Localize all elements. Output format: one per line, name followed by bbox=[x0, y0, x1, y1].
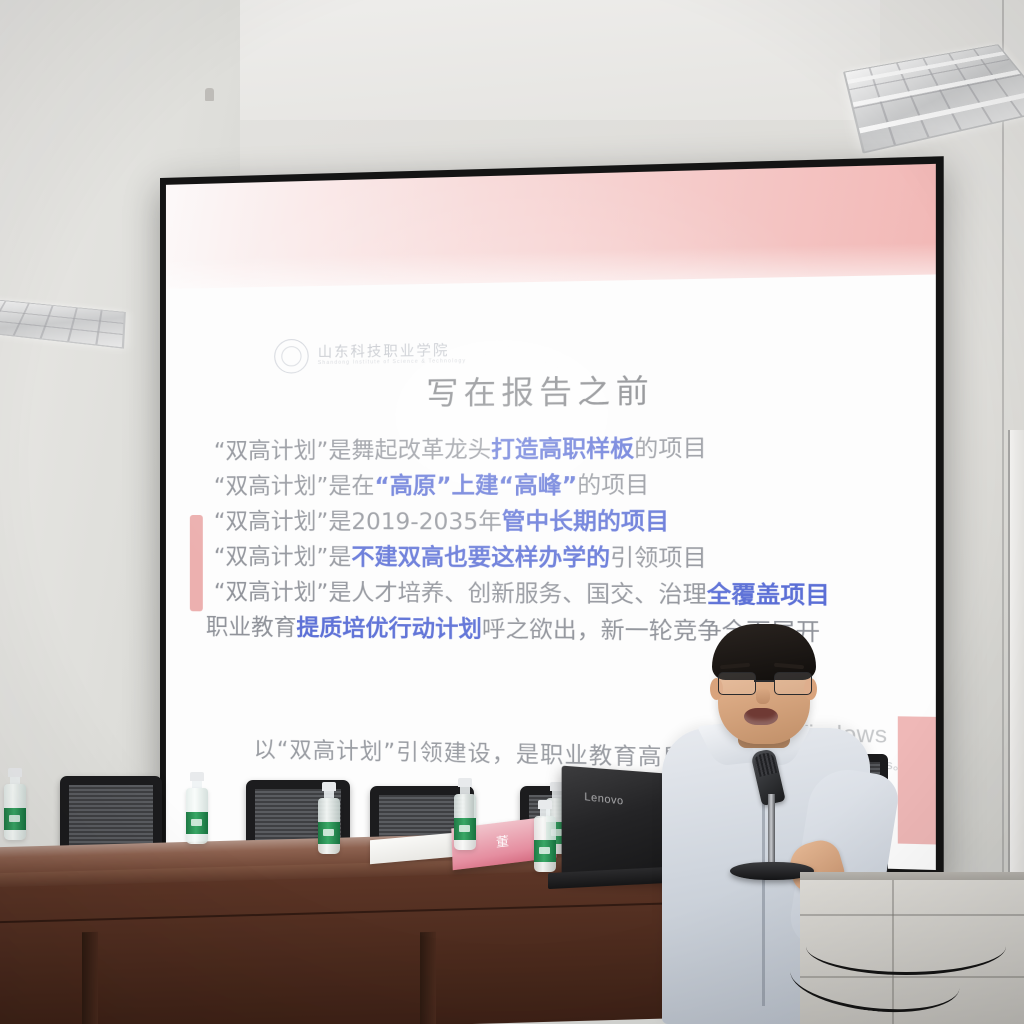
bottle-1-body bbox=[4, 784, 26, 840]
slide-line-1: “双高计划”是舞起改革龙头打造高职样板的项目 bbox=[206, 430, 920, 470]
line-1-post: 的项目 bbox=[634, 435, 707, 462]
laptop-brand-logo: Lenovo bbox=[584, 791, 623, 808]
slide-line-5: “双高计划”是人才培养、创新服务、国交、治理全覆盖项目 bbox=[206, 575, 920, 616]
door-frame bbox=[1008, 430, 1024, 900]
bottle-6-label bbox=[534, 840, 556, 862]
ceiling-sensor-icon bbox=[205, 88, 214, 101]
line-3-pre: “双高计划”是2019-2035年 bbox=[214, 509, 502, 536]
floor-tile-line-1 bbox=[800, 914, 1024, 916]
microphone[interactable] bbox=[742, 752, 802, 880]
bottle-6-body bbox=[534, 816, 556, 872]
line-3-highlight: 管中长期的项目 bbox=[502, 509, 669, 536]
bottle-4-neck bbox=[460, 787, 470, 794]
slide-line-4: “双高计划”是不建双高也要这样办学的引领项目 bbox=[206, 540, 920, 578]
water-bottle-1 bbox=[4, 768, 26, 840]
water-bottle-3 bbox=[318, 782, 340, 854]
table-leg-2 bbox=[420, 932, 436, 1024]
bottle-1-neck bbox=[10, 777, 20, 784]
line-1-highlight: 打造高职样板 bbox=[491, 436, 634, 464]
speaker-nose bbox=[756, 688, 770, 704]
bottle-5-neck bbox=[552, 791, 562, 798]
glasses-lens-right bbox=[774, 672, 812, 695]
bottle-1-cap bbox=[8, 768, 22, 777]
water-bottle-2 bbox=[186, 772, 208, 844]
wall-corner-seam bbox=[1002, 0, 1004, 900]
line-2-pre: “双高计划”是在 bbox=[214, 473, 375, 500]
microphone-stem bbox=[768, 794, 775, 866]
water-bottle-4 bbox=[454, 778, 476, 850]
bottle-4-body bbox=[454, 794, 476, 850]
bottle-4-label bbox=[454, 818, 476, 840]
bottle-3-cap bbox=[322, 782, 336, 791]
bottle-2-cap bbox=[190, 772, 204, 781]
line-2-highlight: “高原”上建“高峰” bbox=[374, 472, 577, 499]
slide-line-2: “双高计划”是在“高原”上建“高峰”的项目 bbox=[206, 467, 920, 505]
line-2-post: 的项目 bbox=[577, 472, 649, 499]
bottle-2-neck bbox=[192, 781, 202, 788]
microphone-grille bbox=[753, 751, 777, 777]
line-1-pre: “双高计划”是舞起改革龙头 bbox=[214, 437, 491, 465]
bottle-1-label bbox=[4, 808, 26, 830]
slide-line-3: “双高计划”是2019-2035年管中长期的项目 bbox=[206, 504, 920, 541]
glasses-bridge bbox=[754, 680, 774, 682]
bottle-6-neck bbox=[540, 809, 550, 816]
line-4-highlight: 不建双高也要这样办学的 bbox=[351, 544, 610, 572]
line-5-highlight: 全覆盖项目 bbox=[707, 582, 830, 610]
line-5-pre: “双高计划”是人才培养、创新服务、国交、治理 bbox=[214, 579, 707, 609]
bottle-3-neck bbox=[324, 791, 334, 798]
line-4-pre: “双高计划”是 bbox=[214, 544, 352, 571]
speaker-mouth bbox=[744, 708, 778, 725]
bottle-3-label bbox=[318, 822, 340, 844]
logo-text: 山东科技职业学院 Shandong Institute of Science &… bbox=[318, 344, 466, 366]
line-4-post: 引领项目 bbox=[610, 545, 707, 572]
glasses-lens-left bbox=[718, 672, 756, 695]
water-bottle-6 bbox=[534, 800, 556, 872]
bottle-4-cap bbox=[458, 778, 472, 787]
bottle-2-body bbox=[186, 788, 208, 844]
bottle-6-cap bbox=[538, 800, 552, 809]
bottle-3-body bbox=[318, 798, 340, 854]
logo-name-en: Shandong Institute of Science & Technolo… bbox=[318, 359, 466, 366]
slide-title: 写在报告之前 bbox=[166, 362, 936, 416]
line-6-highlight: 提质培优行动计划 bbox=[297, 615, 482, 643]
photo-scene: 山东科技职业学院 Shandong Institute of Science &… bbox=[0, 0, 1024, 1024]
bottle-2-label bbox=[186, 812, 208, 834]
line-6-pre: 职业教育 bbox=[206, 614, 297, 641]
table-leg-1 bbox=[82, 932, 98, 1024]
